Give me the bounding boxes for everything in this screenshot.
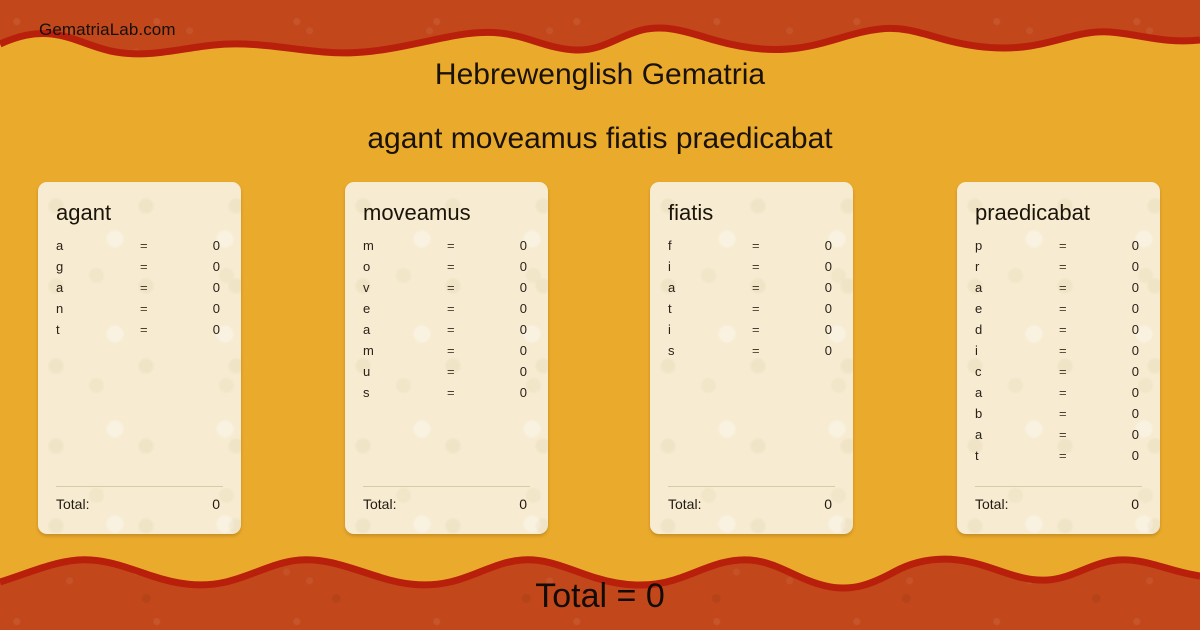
- equals-sign: =: [140, 280, 184, 295]
- card-total-label: Total:: [363, 496, 519, 512]
- letter-label: a: [975, 385, 1059, 400]
- letter-label: n: [56, 301, 140, 316]
- equals-sign: =: [140, 301, 184, 316]
- equals-sign: =: [1059, 406, 1103, 421]
- equals-sign: =: [447, 259, 491, 274]
- card-word-title: praedicabat: [975, 200, 1142, 226]
- equals-sign: =: [1059, 427, 1103, 442]
- letter-label: o: [363, 259, 447, 274]
- equals-sign: =: [1059, 238, 1103, 253]
- letter-value: 0: [1103, 448, 1142, 463]
- equals-sign: =: [447, 280, 491, 295]
- equals-sign: =: [752, 301, 796, 316]
- letter-row-list: f = 0 i = 0 a = 0 t = 0: [668, 238, 835, 364]
- letter-value: 0: [184, 301, 223, 316]
- card-total-label: Total:: [56, 496, 212, 512]
- gematria-poster: GematriaLab.com Hebrewenglish Gematria a…: [0, 0, 1200, 630]
- letter-row: n = 0: [56, 301, 223, 322]
- equals-sign: =: [447, 385, 491, 400]
- letter-value: 0: [796, 301, 835, 316]
- letter-row: a = 0: [975, 280, 1142, 301]
- letter-row-list: a = 0 g = 0 a = 0 n = 0: [56, 238, 223, 343]
- letter-row: s = 0: [668, 343, 835, 364]
- letter-value: 0: [491, 364, 530, 379]
- letter-row: e = 0: [975, 301, 1142, 322]
- equals-sign: =: [1059, 343, 1103, 358]
- letter-value: 0: [1103, 406, 1142, 421]
- letter-value: 0: [1103, 238, 1142, 253]
- letter-value: 0: [796, 280, 835, 295]
- site-watermark: GematriaLab.com: [39, 20, 176, 40]
- card-total-row: Total: 0: [668, 486, 835, 512]
- equals-sign: =: [1059, 364, 1103, 379]
- equals-sign: =: [140, 259, 184, 274]
- letter-row: m = 0: [363, 238, 530, 259]
- letter-label: a: [668, 280, 752, 295]
- letter-value: 0: [491, 343, 530, 358]
- equals-sign: =: [447, 301, 491, 316]
- equals-sign: =: [1059, 259, 1103, 274]
- letter-value: 0: [796, 322, 835, 337]
- letter-row: a = 0: [668, 280, 835, 301]
- letter-label: g: [56, 259, 140, 274]
- card-word-title: moveamus: [363, 200, 530, 226]
- letter-row: f = 0: [668, 238, 835, 259]
- equals-sign: =: [752, 238, 796, 253]
- letter-value: 0: [184, 259, 223, 274]
- letter-label: a: [56, 280, 140, 295]
- card-total-value: 0: [519, 496, 530, 512]
- equals-sign: =: [1059, 301, 1103, 316]
- letter-value: 0: [796, 238, 835, 253]
- equals-sign: =: [140, 322, 184, 337]
- card-total-value: 0: [824, 496, 835, 512]
- page-title: Hebrewenglish Gematria: [0, 58, 1200, 92]
- letter-value: 0: [491, 238, 530, 253]
- letter-value: 0: [1103, 343, 1142, 358]
- letter-label: s: [668, 343, 752, 358]
- letter-row-list: m = 0 o = 0 v = 0 e = 0: [363, 238, 530, 406]
- word-card-list: agant a = 0 g = 0 a = 0 n: [38, 182, 1163, 534]
- letter-row: g = 0: [56, 259, 223, 280]
- card-total-row: Total: 0: [56, 486, 223, 512]
- letter-value: 0: [184, 238, 223, 253]
- letter-row: t = 0: [975, 448, 1142, 469]
- letter-label: i: [668, 259, 752, 274]
- phrase-subtitle: agant moveamus fiatis praedicabat: [0, 122, 1200, 156]
- equals-sign: =: [752, 280, 796, 295]
- letter-row: d = 0: [975, 322, 1142, 343]
- letter-row: a = 0: [975, 385, 1142, 406]
- letter-value: 0: [491, 301, 530, 316]
- letter-row: s = 0: [363, 385, 530, 406]
- equals-sign: =: [447, 238, 491, 253]
- letter-label: t: [975, 448, 1059, 463]
- equals-sign: =: [1059, 448, 1103, 463]
- letter-label: p: [975, 238, 1059, 253]
- letter-row: a = 0: [56, 238, 223, 259]
- equals-sign: =: [1059, 322, 1103, 337]
- word-card: fiatis f = 0 i = 0 a = 0 t: [650, 182, 853, 534]
- letter-label: c: [975, 364, 1059, 379]
- letter-label: t: [56, 322, 140, 337]
- letter-row: a = 0: [363, 322, 530, 343]
- letter-value: 0: [1103, 322, 1142, 337]
- letter-value: 0: [1103, 301, 1142, 316]
- card-total-row: Total: 0: [363, 486, 530, 512]
- letter-label: v: [363, 280, 447, 295]
- equals-sign: =: [447, 343, 491, 358]
- letter-value: 0: [1103, 427, 1142, 442]
- word-card: praedicabat p = 0 r = 0 a = 0: [957, 182, 1160, 534]
- letter-value: 0: [491, 259, 530, 274]
- letter-value: 0: [1103, 385, 1142, 400]
- letter-value: 0: [184, 280, 223, 295]
- letter-label: s: [363, 385, 447, 400]
- letter-row: o = 0: [363, 259, 530, 280]
- letter-label: r: [975, 259, 1059, 274]
- letter-row: t = 0: [668, 301, 835, 322]
- letter-label: m: [363, 343, 447, 358]
- letter-row: b = 0: [975, 406, 1142, 427]
- word-card: moveamus m = 0 o = 0 v = 0 e: [345, 182, 548, 534]
- card-word-title: agant: [56, 200, 223, 226]
- letter-row: u = 0: [363, 364, 530, 385]
- letter-row: p = 0: [975, 238, 1142, 259]
- letter-row: i = 0: [668, 259, 835, 280]
- letter-row: a = 0: [56, 280, 223, 301]
- letter-label: m: [363, 238, 447, 253]
- letter-label: f: [668, 238, 752, 253]
- letter-row-list: p = 0 r = 0 a = 0 e = 0: [975, 238, 1142, 469]
- letter-row: t = 0: [56, 322, 223, 343]
- letter-label: e: [975, 301, 1059, 316]
- letter-value: 0: [1103, 364, 1142, 379]
- equals-sign: =: [1059, 280, 1103, 295]
- card-total-label: Total:: [668, 496, 824, 512]
- letter-row: e = 0: [363, 301, 530, 322]
- letter-value: 0: [491, 322, 530, 337]
- letter-row: c = 0: [975, 364, 1142, 385]
- letter-label: a: [56, 238, 140, 253]
- equals-sign: =: [752, 343, 796, 358]
- letter-label: b: [975, 406, 1059, 421]
- letter-row: m = 0: [363, 343, 530, 364]
- letter-row: r = 0: [975, 259, 1142, 280]
- equals-sign: =: [752, 322, 796, 337]
- letter-row: v = 0: [363, 280, 530, 301]
- letter-label: a: [363, 322, 447, 337]
- equals-sign: =: [447, 364, 491, 379]
- card-word-title: fiatis: [668, 200, 835, 226]
- letter-value: 0: [796, 343, 835, 358]
- letter-row: i = 0: [975, 343, 1142, 364]
- letter-label: u: [363, 364, 447, 379]
- equals-sign: =: [1059, 385, 1103, 400]
- card-total-value: 0: [212, 496, 223, 512]
- letter-label: e: [363, 301, 447, 316]
- letter-row: i = 0: [668, 322, 835, 343]
- letter-value: 0: [1103, 280, 1142, 295]
- card-paper-texture: [38, 182, 241, 534]
- equals-sign: =: [140, 238, 184, 253]
- letter-label: t: [668, 301, 752, 316]
- letter-label: a: [975, 427, 1059, 442]
- letter-value: 0: [491, 385, 530, 400]
- letter-label: d: [975, 322, 1059, 337]
- letter-value: 0: [796, 259, 835, 274]
- equals-sign: =: [447, 322, 491, 337]
- grand-total: Total = 0: [0, 577, 1200, 616]
- equals-sign: =: [752, 259, 796, 274]
- letter-label: i: [668, 322, 752, 337]
- letter-label: a: [975, 280, 1059, 295]
- card-total-label: Total:: [975, 496, 1131, 512]
- card-total-value: 0: [1131, 496, 1142, 512]
- letter-value: 0: [184, 322, 223, 337]
- word-card: agant a = 0 g = 0 a = 0 n: [38, 182, 241, 534]
- card-total-row: Total: 0: [975, 486, 1142, 512]
- letter-value: 0: [491, 280, 530, 295]
- letter-value: 0: [1103, 259, 1142, 274]
- letter-row: a = 0: [975, 427, 1142, 448]
- letter-label: i: [975, 343, 1059, 358]
